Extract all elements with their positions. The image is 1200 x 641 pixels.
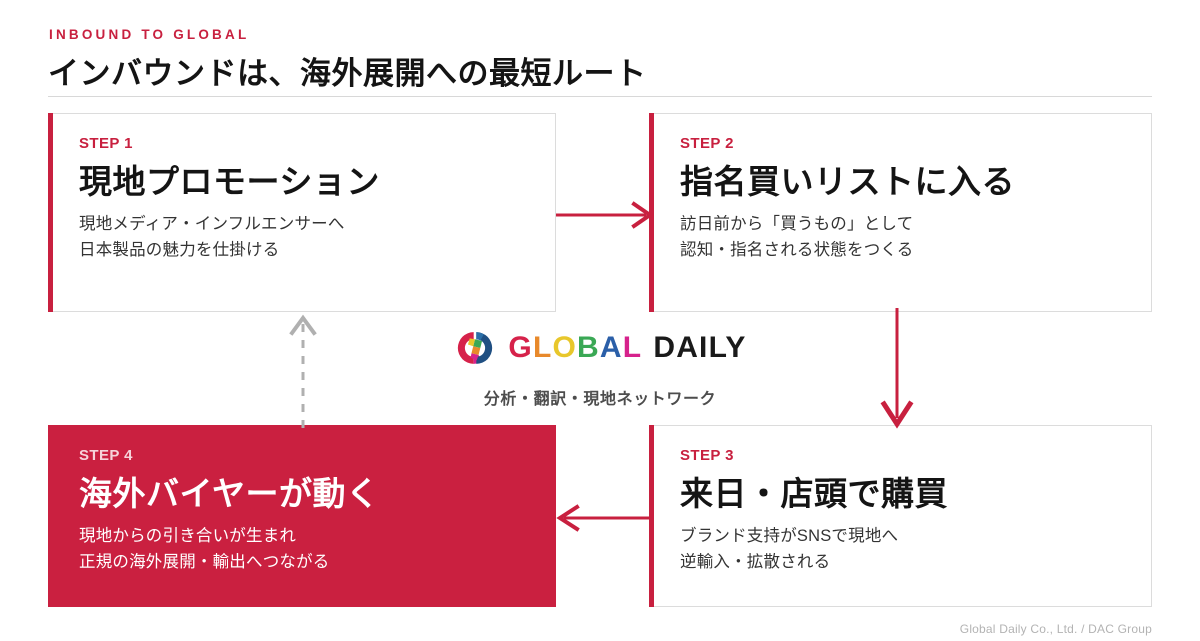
arrow-right-icon [556,195,654,235]
card-desc-4-line2: 正規の海外展開・輸出へつながる [79,550,529,576]
card-desc-3: ブランド支持がSNSで現地へ 逆輸入・拡散される [680,524,1125,575]
card-title-1: 現地プロモーション [79,164,529,201]
card-step-1: STEP 1 現地プロモーション 現地メディア・インフルエンサーへ 日本製品の魅… [53,113,556,312]
slide-canvas: INBOUND TO GLOBAL インバウンドは、海外展開への最短ルート ST… [0,0,1200,641]
eyebrow-label: INBOUND TO GLOBAL [49,27,249,42]
header-divider [48,96,1152,97]
arrow-left-icon [550,498,655,538]
logo-tagline: 分析・翻訳・現地ネットワーク [0,385,1200,409]
footer-credit: Global Daily Co., Ltd. / DAC Group [960,622,1152,636]
card-desc-3-line1: ブランド支持がSNSで現地へ [680,524,1125,550]
card-desc-2-line2: 認知・指名される状態をつくる [680,238,1125,264]
card-desc-3-line2: 逆輸入・拡散される [680,550,1125,576]
card-desc-4-line1: 現地からの引き合いが生まれ [79,524,529,550]
logo-letter-g: G [508,333,533,363]
card-title-3: 来日・店頭で購買 [680,476,1125,513]
logo-block: GLOBAL DAILY 分析・翻訳・現地ネットワーク [0,325,1200,409]
global-daily-logo-icon [453,326,497,370]
logo-letter-o: O [553,333,578,363]
card-desc-2-line1: 訪日前から「買うもの」として [680,212,1125,238]
card-title-2: 指名買いリストに入る [680,164,1125,201]
card-desc-2: 訪日前から「買うもの」として 認知・指名される状態をつくる [680,212,1125,263]
card-step-4: STEP 4 海外バイヤーが動く 現地からの引き合いが生まれ 正規の海外展開・輸… [53,425,556,607]
logo-wordmark-daily: DAILY [653,333,746,363]
card-title-4: 海外バイヤーが動く [79,476,529,513]
step-label-1: STEP 1 [79,136,529,151]
logo-letter-l1: L [533,333,553,363]
step-label-2: STEP 2 [680,136,1125,151]
card-step-2: STEP 2 指名買いリストに入る 訪日前から「買うもの」として 認知・指名され… [654,113,1152,312]
card-desc-4: 現地からの引き合いが生まれ 正規の海外展開・輸出へつながる [79,524,529,575]
logo-wordmark-space [642,333,653,363]
step-label-4: STEP 4 [79,448,529,463]
logo-letter-a: A [600,333,623,363]
step-label-3: STEP 3 [680,448,1125,463]
logo-wordmark: GLOBAL DAILY [508,333,746,363]
card-desc-1: 現地メディア・インフルエンサーへ 日本製品の魅力を仕掛ける [79,212,529,263]
logo-letter-b: B [577,333,600,363]
card-desc-1-line2: 日本製品の魅力を仕掛ける [79,238,529,264]
page-title: インバウンドは、海外展開への最短ルート [48,48,647,93]
card-step-3: STEP 3 来日・店頭で購買 ブランド支持がSNSで現地へ 逆輸入・拡散される [654,425,1152,607]
logo-letter-l2: L [623,333,643,363]
logo-row: GLOBAL DAILY [453,325,746,371]
card-desc-1-line1: 現地メディア・インフルエンサーへ [79,212,529,238]
